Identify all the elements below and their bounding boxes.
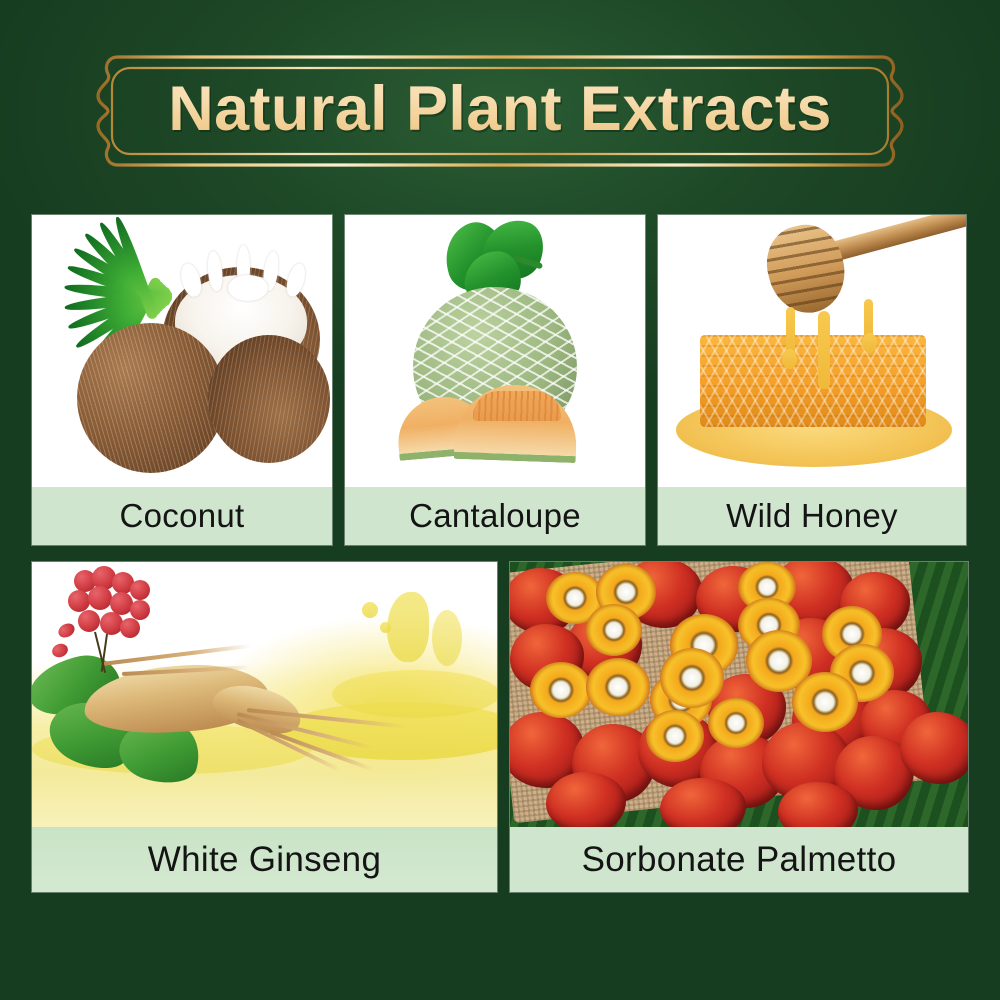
title-banner: Natural Plant Extracts Natural Plant Ext…	[78, 52, 922, 170]
cantaloupe-illustration	[345, 215, 645, 487]
white-ginseng-illustration	[32, 562, 497, 827]
card-label: Wild Honey	[658, 487, 966, 545]
wild-honey-illustration	[658, 215, 966, 487]
card-label: Sorbonate Palmetto	[510, 827, 968, 892]
grid-row-1: Coconut Cantaloupe	[32, 215, 968, 545]
sorbonate-palmetto-photo	[510, 562, 968, 827]
card-label: Cantaloupe	[345, 487, 645, 545]
coconut-illustration	[32, 215, 332, 487]
poster-root: Natural Plant Extracts Natural Plant Ext…	[0, 0, 1000, 1000]
extract-grid: Coconut Cantaloupe	[32, 215, 968, 892]
card-label: Coconut	[32, 487, 332, 545]
card-wild-honey[interactable]: Wild Honey	[658, 215, 966, 545]
card-white-ginseng[interactable]: White Ginseng	[32, 562, 497, 892]
card-sorbonate-palmetto[interactable]: Sorbonate Palmetto	[510, 562, 968, 892]
grid-row-2: White Ginseng	[32, 562, 968, 892]
page-title: Natural Plant Extracts	[78, 52, 922, 170]
card-label: White Ginseng	[32, 827, 497, 892]
card-cantaloupe[interactable]: Cantaloupe	[345, 215, 645, 545]
card-coconut[interactable]: Coconut	[32, 215, 332, 545]
